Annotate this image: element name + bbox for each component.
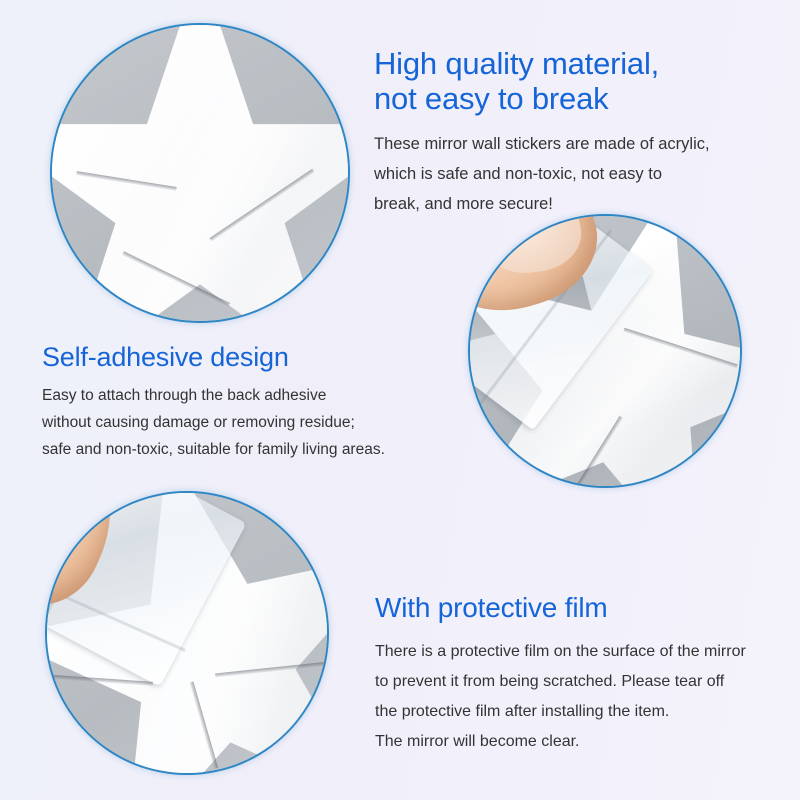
heading-line: not easy to break xyxy=(374,81,608,116)
body-line: which is safe and non-toxic, not easy to xyxy=(374,159,710,189)
thumbnail xyxy=(476,216,585,277)
feature-block-quality: High quality material, not easy to break… xyxy=(374,46,710,219)
body-line: break, and more secure! xyxy=(374,189,710,219)
photo-scene xyxy=(52,25,348,321)
feature-heading-adhesive: Self-adhesive design xyxy=(42,341,385,373)
heading-line: High quality material, xyxy=(374,46,659,81)
photo-finger-peeling-protective-film-from-star xyxy=(47,493,327,773)
feature-heading-quality: High quality material, not easy to break xyxy=(374,46,710,116)
body-line: These mirror wall stickers are made of a… xyxy=(374,129,710,159)
body-line: the protective film after installing the… xyxy=(375,697,746,727)
photo-scene xyxy=(47,493,327,773)
heading-line: Self-adhesive design xyxy=(42,342,289,372)
body-line: There is a protective film on the surfac… xyxy=(375,637,746,667)
body-line: Easy to attach through the back adhesive xyxy=(42,382,385,409)
photo-scene xyxy=(470,216,740,486)
feature-block-film: With protective film There is a protecti… xyxy=(375,591,746,757)
body-line: safe and non-toxic, suitable for family … xyxy=(42,436,385,463)
photo-thumb-peeling-adhesive-backing-from-star xyxy=(470,216,740,486)
heading-line: With protective film xyxy=(375,592,608,623)
feature-block-adhesive: Self-adhesive design Easy to attach thro… xyxy=(42,341,385,463)
body-line: The mirror will become clear. xyxy=(375,727,746,757)
feature-body-film: There is a protective film on the surfac… xyxy=(375,637,746,757)
feature-heading-film: With protective film xyxy=(375,591,746,624)
feature-body-adhesive: Easy to attach through the back adhesive… xyxy=(42,382,385,463)
photo-white-acrylic-star-sticker-closeup xyxy=(52,25,348,321)
body-line: to prevent it from being scratched. Plea… xyxy=(375,667,746,697)
infographic-page: High quality material, not easy to break… xyxy=(0,0,800,800)
body-line: without causing damage or removing resid… xyxy=(42,409,385,436)
feature-body-quality: These mirror wall stickers are made of a… xyxy=(374,129,710,219)
